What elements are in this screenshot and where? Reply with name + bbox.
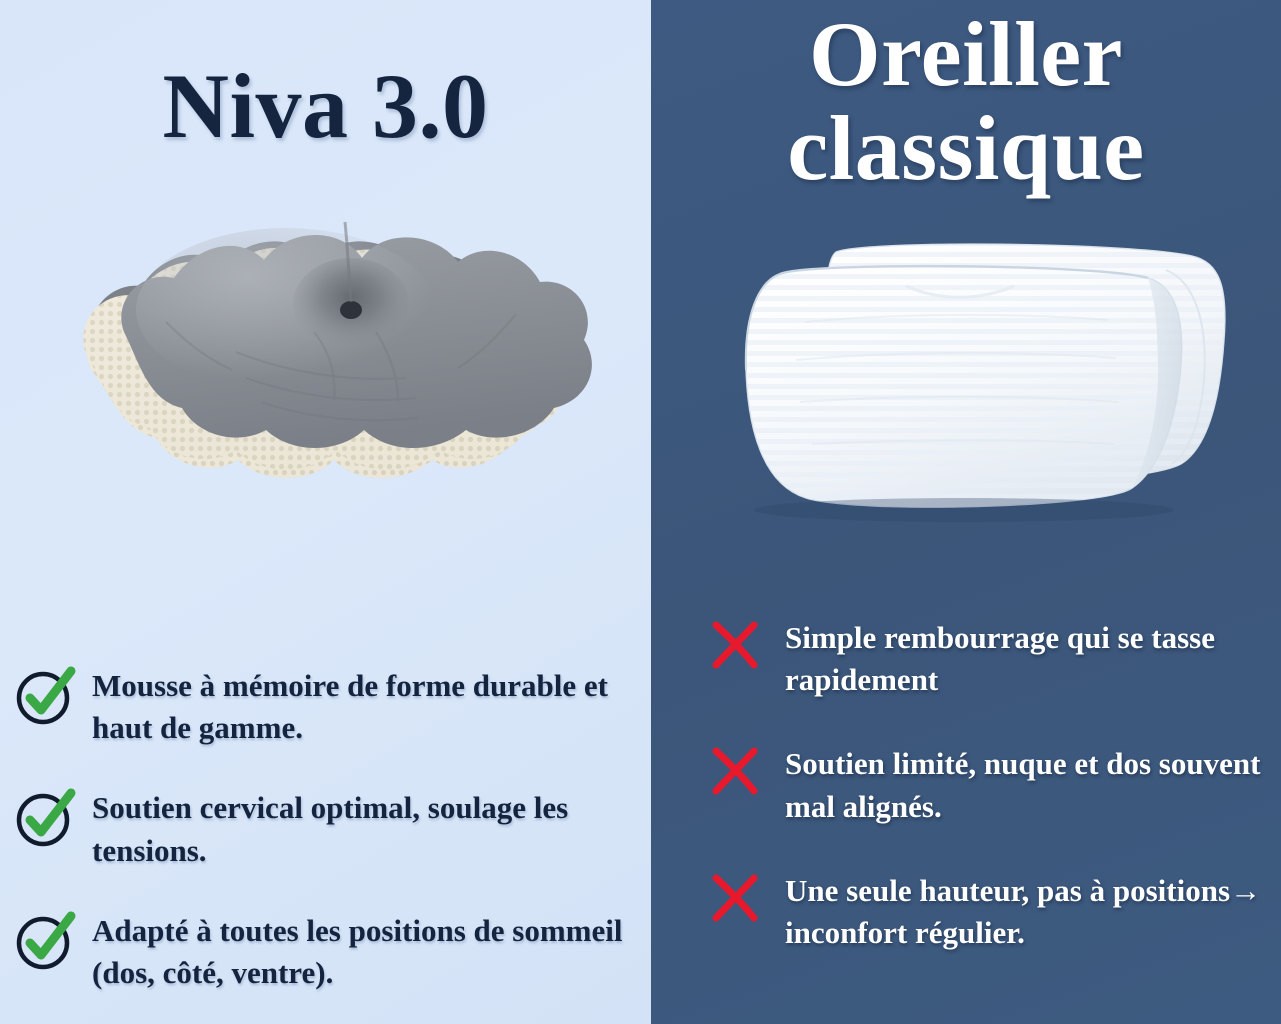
right-panel-classic: Oreiller classique xyxy=(651,0,1281,1024)
list-item-label: Adapté à toutes les positions de sommeil… xyxy=(76,908,633,994)
left-panel-title: Niva 3.0 xyxy=(0,0,651,154)
list-item-label: Une seule hauteur, pas à positions→ inco… xyxy=(761,868,1267,954)
list-item-label: Soutien limité, nuque et dos souvent mal… xyxy=(761,741,1267,827)
check-circle-icon xyxy=(14,665,76,727)
right-panel-title: Oreiller classique xyxy=(651,0,1281,196)
left-panel-niva: Niva 3.0 xyxy=(0,0,651,1024)
classic-pillows-image xyxy=(651,230,1281,560)
list-item-label: Soutien cervical optimal, soulage les te… xyxy=(76,785,633,871)
list-item-label: Mousse à mémoire de forme durable et hau… xyxy=(76,663,633,749)
list-item: Une seule hauteur, pas à positions→ inco… xyxy=(709,868,1267,954)
niva-pillow-illustration xyxy=(46,182,606,482)
cross-icon xyxy=(709,872,761,924)
pillow-dimple-hole xyxy=(340,301,362,319)
list-item: Soutien cervical optimal, soulage les te… xyxy=(14,785,633,871)
cross-icon xyxy=(709,745,761,797)
left-benefit-list: Mousse à mémoire de forme durable et hau… xyxy=(0,663,651,994)
check-circle-icon xyxy=(14,910,76,972)
pillow-front xyxy=(746,266,1182,507)
list-item: Adapté à toutes les positions de sommeil… xyxy=(14,908,633,994)
list-item: Soutien limité, nuque et dos souvent mal… xyxy=(709,741,1267,827)
pillow-comparison-graphic: Niva 3.0 xyxy=(0,0,1281,1024)
list-item: Mousse à mémoire de forme durable et hau… xyxy=(14,663,633,749)
right-drawback-list: Simple rembourrage qui se tasse rapideme… xyxy=(651,615,1281,994)
cross-icon xyxy=(709,619,761,671)
niva-pillow-image xyxy=(0,182,651,512)
list-item: Simple rembourrage qui se tasse rapideme… xyxy=(709,615,1267,701)
check-circle-icon xyxy=(14,787,76,849)
list-item-label: Simple rembourrage qui se tasse rapideme… xyxy=(761,615,1267,701)
right-panel-title-line2: classique xyxy=(787,97,1144,199)
classic-pillows-illustration xyxy=(696,230,1236,530)
right-panel-title-line1: Oreiller xyxy=(809,3,1123,105)
pillow-shadow xyxy=(754,498,1174,522)
